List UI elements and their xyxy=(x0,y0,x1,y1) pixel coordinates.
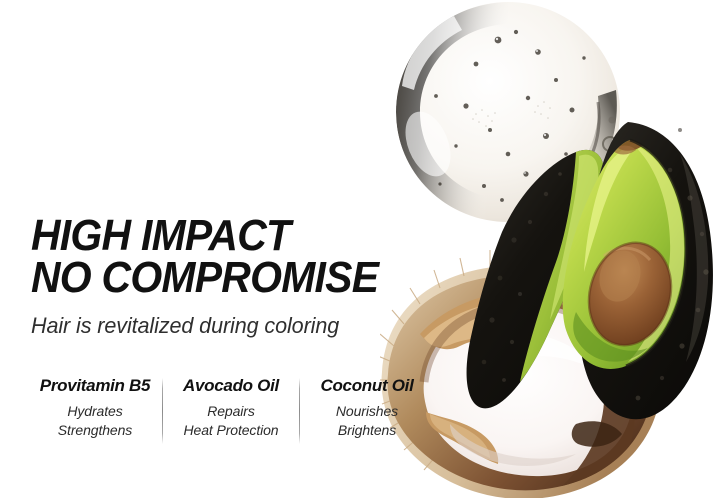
copy-block: HIGH IMPACT NO COMPROMISE Hair is revita… xyxy=(31,215,411,339)
headline-line-2: NO COMPROMISE xyxy=(31,257,384,299)
ingredient-name: Coconut Oil xyxy=(308,376,426,396)
ingredient-benefits: Hydrates Strengthens xyxy=(36,396,154,440)
ingredient-item-provitamin-b5: Provitamin B5 Hydrates Strengthens xyxy=(28,376,162,440)
ingredient-benefit: Hydrates xyxy=(36,402,154,421)
ingredient-benefits: Repairs Heat Protection xyxy=(171,396,291,440)
headline-line-1: HIGH IMPACT xyxy=(31,215,384,257)
ingredient-benefit: Repairs xyxy=(171,402,291,421)
ingredient-benefits: Nourishes Brightens xyxy=(308,396,426,440)
ingredient-name: Avocado Oil xyxy=(171,376,291,396)
promo-banner: HIGH IMPACT NO COMPROMISE Hair is revita… xyxy=(0,0,720,498)
subheadline: Hair is revitalized during coloring xyxy=(31,299,403,339)
ingredient-benefit: Brightens xyxy=(308,421,426,440)
ingredient-list: Provitamin B5 Hydrates Strengthens Avoca… xyxy=(28,376,406,444)
ingredient-item-coconut-oil: Coconut Oil Nourishes Brightens xyxy=(300,376,434,440)
ingredient-benefit: Nourishes xyxy=(308,402,426,421)
ingredient-item-avocado-oil: Avocado Oil Repairs Heat Protection xyxy=(163,376,299,440)
page-title: HIGH IMPACT NO COMPROMISE xyxy=(31,215,384,299)
ingredient-name: Provitamin B5 xyxy=(36,376,154,396)
ingredient-benefit: Strengthens xyxy=(36,421,154,440)
ingredient-benefit: Heat Protection xyxy=(171,421,291,440)
